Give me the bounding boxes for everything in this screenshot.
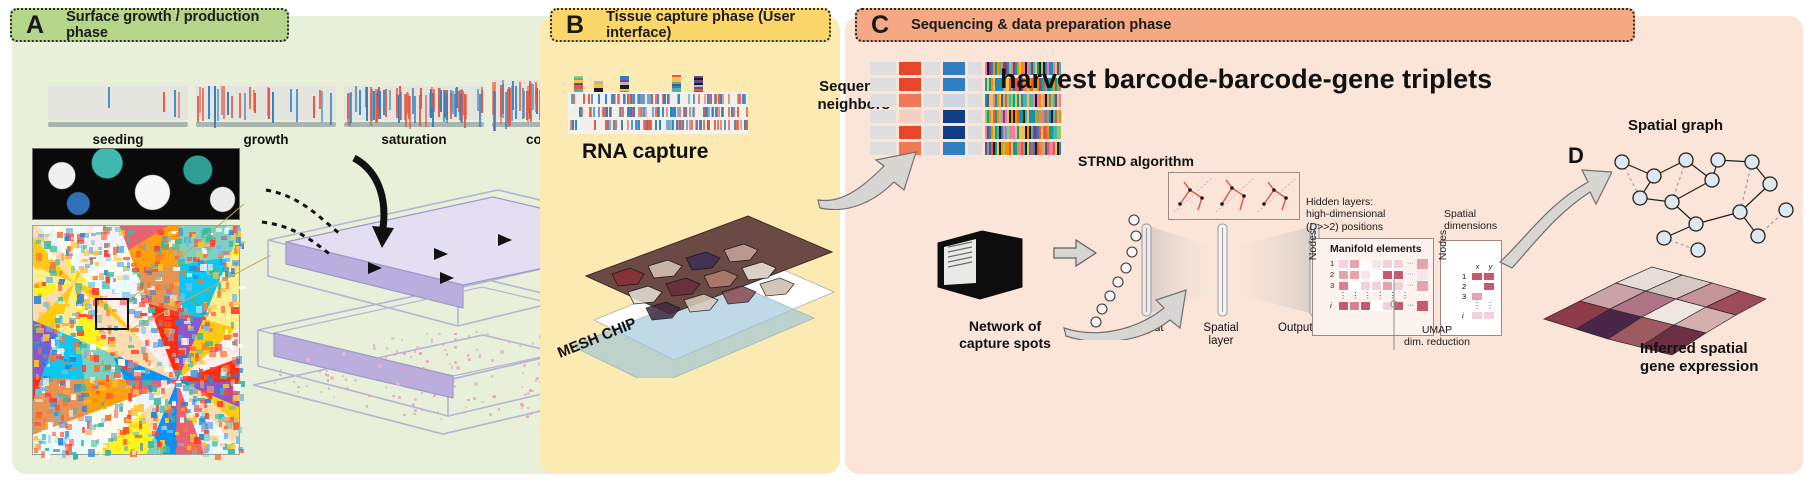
panel-a-header: A Surface growth / production phase [10, 8, 289, 42]
panel-b-title: Tissue capture phase (User interface) [606, 9, 815, 41]
inferred-expression-label: Inferred spatial gene expression [1640, 340, 1758, 377]
rna-capture-label: RNA capture [582, 140, 708, 164]
stage-growth-barcodes [196, 86, 336, 120]
manifold-nodes-axis: Nodes [1307, 222, 1319, 268]
stage-seeding: seeding [48, 86, 188, 147]
panel-c-header: C Sequencing & data preparation phase [855, 8, 1635, 42]
hidden-layers-line1: Hidden layers: [1306, 196, 1416, 208]
hidden-layers-note: Hidden layers: high-dimensional (D>>2) p… [1306, 196, 1416, 233]
arrow-capture-to-sequencing [812, 148, 927, 210]
arrow-network-to-strnd [1060, 288, 1188, 340]
panel-a-title: Surface growth / production phase [66, 9, 273, 41]
harvest-title: harvest barcode-barcode-gene triplets [1000, 64, 1492, 95]
network-label-line1: Network of [935, 318, 1075, 335]
inferred-line1: Inferred spatial [1640, 340, 1758, 358]
umap-label: UMAP dim. reduction [1382, 324, 1492, 349]
sequencer-machine-icon [930, 225, 1060, 305]
manifold-elements-title: Manifold elements [1330, 243, 1422, 255]
molecule-conformation-icons [1170, 174, 1298, 218]
nn-output-label: Output [1278, 322, 1313, 334]
panel-c-title: Sequencing & data preparation phase [911, 17, 1171, 33]
spatial-matrix: xy123⋮⋮i [1462, 262, 1499, 320]
hidden-layers-line3: (D>>2) positions [1306, 221, 1416, 233]
stage-seeding-rule [48, 122, 188, 127]
network-label-line2: capture spots [935, 335, 1075, 352]
table-row [870, 110, 1061, 123]
voronoi-seed-image [32, 148, 240, 220]
stage-saturation-barcodes [344, 86, 484, 120]
table-row [870, 94, 1061, 107]
spatial-graph-label: Spatial graph [1628, 117, 1723, 134]
umap-line1: UMAP [1382, 324, 1492, 336]
stage-growth-rule [196, 122, 336, 127]
stage-seeding-barcodes [48, 86, 188, 120]
inferred-line2: gene expression [1640, 358, 1758, 376]
mesh-chip-tissue-diagram: MESH CHIP [552, 208, 838, 378]
network-of-capture-spots-label: Network of capture spots [935, 318, 1075, 352]
panel-b-letter: B [566, 13, 584, 38]
nn-spatial-layer-label: Spatial layer [1198, 322, 1244, 347]
strnd-title: STRND algorithm [1078, 153, 1194, 169]
panel-b-header: B Tissue capture phase (User interface) [550, 8, 831, 42]
panel-c-letter: C [871, 13, 889, 38]
umap-line2: dim. reduction [1382, 336, 1492, 348]
nn-spatial-line1: Spatial [1198, 322, 1244, 335]
table-row [870, 126, 1061, 139]
nn-spatial-line2: layer [1198, 335, 1244, 348]
region-of-interest-box [95, 298, 129, 330]
panel-d-letter: D [1568, 143, 1584, 169]
voronoi-saturation-image [32, 225, 240, 455]
stage-seeding-label: seeding [48, 132, 188, 147]
rna-capture-matrix [568, 92, 748, 134]
spatial-graph-network [1600, 140, 1810, 260]
panel-a-letter: A [26, 13, 44, 38]
hidden-layers-line2: high-dimensional [1306, 208, 1416, 220]
